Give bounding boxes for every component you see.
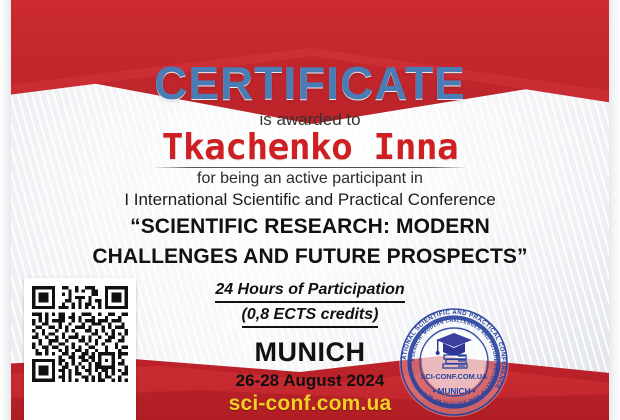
seal-website: SCI-CONF.COM.UA [421, 372, 489, 381]
theme-line-1: “SCIENTIFIC RESEARCH: MODERN [130, 215, 490, 238]
theme-line-2: CHALLENGES AND FUTURE PROSPECTS” [0, 242, 620, 272]
conference-seal: I INTERNATIONAL SCIENTIFIC AND PRACTICAL… [396, 304, 512, 420]
certificate-canvas: CERTIFICATE is awarded to Tkachenko Inna… [0, 0, 620, 420]
credits-line: (0,8 ECTS credits) [242, 303, 379, 328]
seal-city: • MUNICH • [432, 387, 475, 396]
participation-line: for being an active participant in [0, 170, 620, 188]
qr-code-icon[interactable] [32, 286, 128, 382]
conference-line: I International Scientific and Practical… [0, 190, 620, 210]
conference-theme: “SCIENTIFIC RESEARCH: MODERN CHALLENGES … [0, 212, 620, 272]
certificate-title: CERTIFICATE [0, 56, 620, 110]
name-underline-rule [152, 167, 468, 168]
qr-code-card[interactable] [24, 278, 136, 420]
hours-line: 24 Hours of Participation [215, 278, 404, 303]
recipient-name: Tkachenko Inna [0, 127, 620, 168]
